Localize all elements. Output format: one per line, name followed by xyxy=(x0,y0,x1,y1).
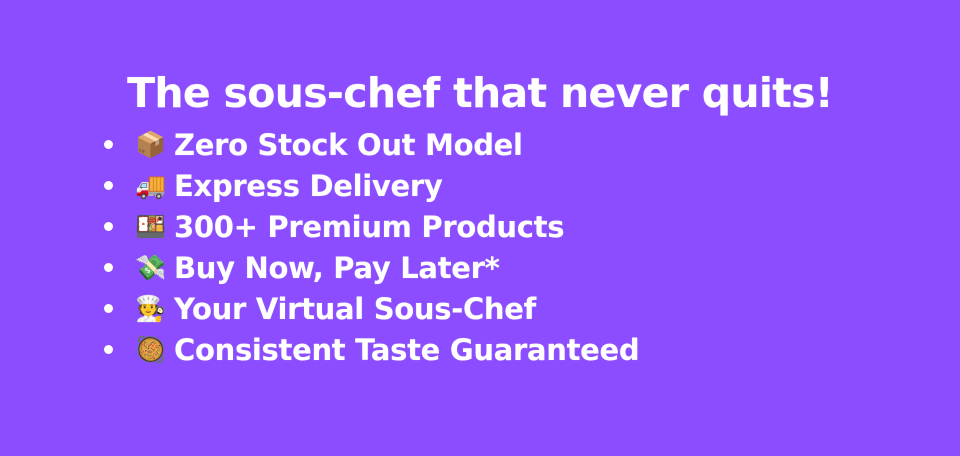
feature-label: Express Delivery xyxy=(174,169,442,203)
chef-icon: 🧑‍🍳 xyxy=(135,296,165,321)
list-item: 🚚 Express Delivery xyxy=(98,165,639,206)
money-with-wings-icon: 💸 xyxy=(135,255,165,280)
feature-label: Zero Stock Out Model xyxy=(174,128,523,162)
bullet-dot-icon xyxy=(104,345,113,354)
bullet-dot-icon xyxy=(104,181,113,190)
bullet-dot-icon xyxy=(104,263,113,272)
list-item: 📦 Zero Stock Out Model xyxy=(98,124,639,165)
delivery-truck-icon: 🚚 xyxy=(135,173,165,198)
bento-box-icon: 🍱 xyxy=(135,214,165,239)
list-item: 💸 Buy Now, Pay Later* xyxy=(98,247,639,288)
bullet-dot-icon xyxy=(104,140,113,149)
list-item: 🥘 Consistent Taste Guaranteed xyxy=(98,329,639,370)
feature-label: Your Virtual Sous-Chef xyxy=(174,292,536,326)
list-item: 🍱 300+ Premium Products xyxy=(98,206,639,247)
promo-slide: The sous-chef that never quits! 📦 Zero S… xyxy=(0,0,960,456)
feature-label: Buy Now, Pay Later* xyxy=(174,251,500,285)
package-icon: 📦 xyxy=(135,132,165,157)
bullet-dot-icon xyxy=(104,304,113,313)
bullet-dot-icon xyxy=(104,222,113,231)
paella-pan-icon: 🥘 xyxy=(135,337,165,362)
list-item: 🧑‍🍳 Your Virtual Sous-Chef xyxy=(98,288,639,329)
feature-label: 300+ Premium Products xyxy=(174,210,564,244)
feature-list: 📦 Zero Stock Out Model 🚚 Express Deliver… xyxy=(98,124,639,370)
feature-label: Consistent Taste Guaranteed xyxy=(174,333,639,367)
page-title: The sous-chef that never quits! xyxy=(0,71,960,117)
